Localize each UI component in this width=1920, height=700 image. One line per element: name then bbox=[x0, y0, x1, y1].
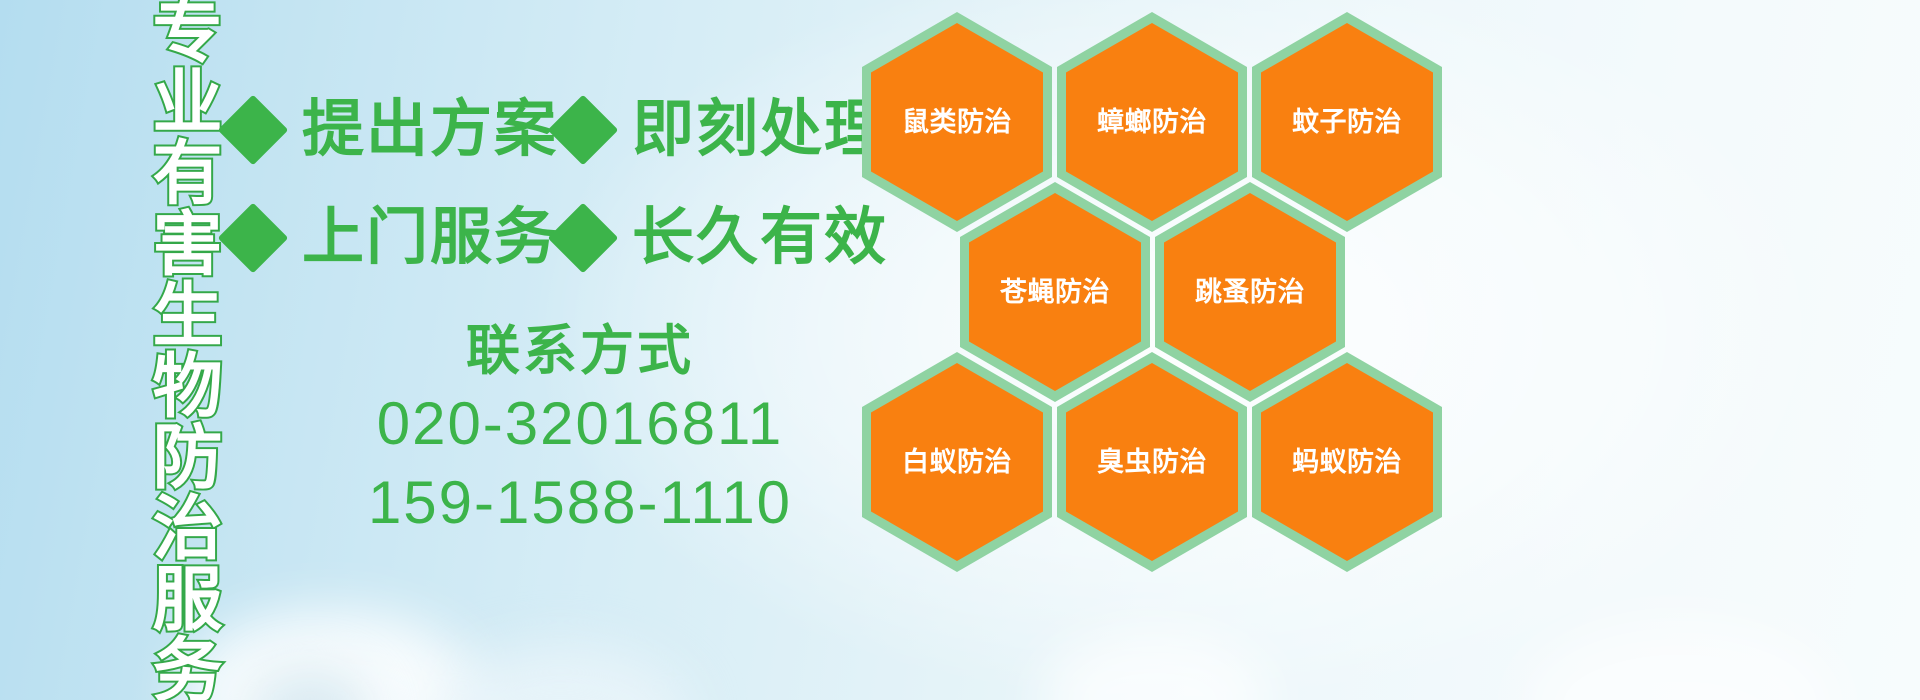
service-hexagon-cockroach[interactable]: 蟑螂防治 bbox=[1057, 12, 1247, 232]
hexagon-inner: 苍蝇防治 bbox=[969, 193, 1141, 391]
diamond-icon bbox=[548, 203, 619, 274]
service-hexagon-rodent[interactable]: 鼠类防治 bbox=[862, 12, 1052, 232]
feature-row: 提出方案 即刻处理 bbox=[228, 76, 868, 184]
pest-control-banner: 专业有害生物防治服务 提出方案 即刻处理 上门服务 长久有效 联系方式 bbox=[0, 0, 1920, 700]
hexagon-inner: 跳蚤防治 bbox=[1164, 193, 1336, 391]
service-label: 苍蝇防治 bbox=[1000, 279, 1110, 306]
contact-block: 联系方式 020-32016811 159-1588-1110 bbox=[300, 320, 860, 542]
service-hexagon-termite[interactable]: 白蚁防治 bbox=[862, 352, 1052, 572]
service-label: 臭虫防治 bbox=[1097, 449, 1207, 476]
vertical-headline: 专业有害生物防治服务 bbox=[108, 0, 214, 594]
service-hexagon-mosquito[interactable]: 蚊子防治 bbox=[1252, 12, 1442, 232]
hexagon-inner: 白蚁防治 bbox=[871, 363, 1043, 561]
feature-label: 提出方案 bbox=[302, 99, 558, 161]
hexagon-inner: 蚂蚁防治 bbox=[1261, 363, 1433, 561]
feature-item: 上门服务 bbox=[228, 207, 558, 269]
service-hexagon-flea[interactable]: 跳蚤防治 bbox=[1155, 182, 1345, 402]
background-bokeh-blob bbox=[180, 610, 480, 700]
diamond-icon bbox=[548, 95, 619, 166]
hexagon-inner: 臭虫防治 bbox=[1066, 363, 1238, 561]
service-label: 跳蚤防治 bbox=[1195, 279, 1305, 306]
feature-label: 即刻处理 bbox=[632, 99, 888, 161]
service-label: 鼠类防治 bbox=[902, 109, 1012, 136]
feature-item: 提出方案 bbox=[228, 99, 558, 161]
background-bokeh-blob bbox=[1520, 620, 1840, 700]
feature-item: 即刻处理 bbox=[558, 99, 888, 161]
background-bokeh-blob bbox=[430, 645, 690, 700]
service-hexagon-fly[interactable]: 苍蝇防治 bbox=[960, 182, 1150, 402]
feature-item: 长久有效 bbox=[558, 207, 888, 269]
feature-list: 提出方案 即刻处理 上门服务 长久有效 bbox=[228, 76, 868, 292]
service-label: 蟑螂防治 bbox=[1097, 109, 1207, 136]
phone-number-mobile[interactable]: 159-1588-1110 bbox=[300, 463, 860, 542]
diamond-icon bbox=[218, 95, 289, 166]
feature-label: 上门服务 bbox=[302, 207, 558, 269]
service-label: 蚂蚁防治 bbox=[1292, 449, 1402, 476]
service-hexagon-grid: 鼠类防治 蟑螂防治 蚊子防治 苍蝇防治 跳蚤防治 白蚁防治 bbox=[862, 4, 1462, 564]
feature-label: 长久有效 bbox=[632, 207, 888, 269]
hexagon-inner: 鼠类防治 bbox=[871, 23, 1043, 221]
phone-number-landline[interactable]: 020-32016811 bbox=[300, 384, 860, 463]
service-label: 蚊子防治 bbox=[1292, 109, 1402, 136]
service-hexagon-ant[interactable]: 蚂蚁防治 bbox=[1252, 352, 1442, 572]
hexagon-inner: 蚊子防治 bbox=[1261, 23, 1433, 221]
background-bokeh-blob bbox=[1040, 630, 1270, 700]
diamond-icon bbox=[218, 203, 289, 274]
contact-title: 联系方式 bbox=[300, 320, 860, 384]
feature-row: 上门服务 长久有效 bbox=[228, 184, 868, 292]
service-hexagon-bedbug[interactable]: 臭虫防治 bbox=[1057, 352, 1247, 572]
hexagon-inner: 蟑螂防治 bbox=[1066, 23, 1238, 221]
background-bokeh-blob bbox=[250, 670, 370, 700]
service-label: 白蚁防治 bbox=[902, 449, 1012, 476]
